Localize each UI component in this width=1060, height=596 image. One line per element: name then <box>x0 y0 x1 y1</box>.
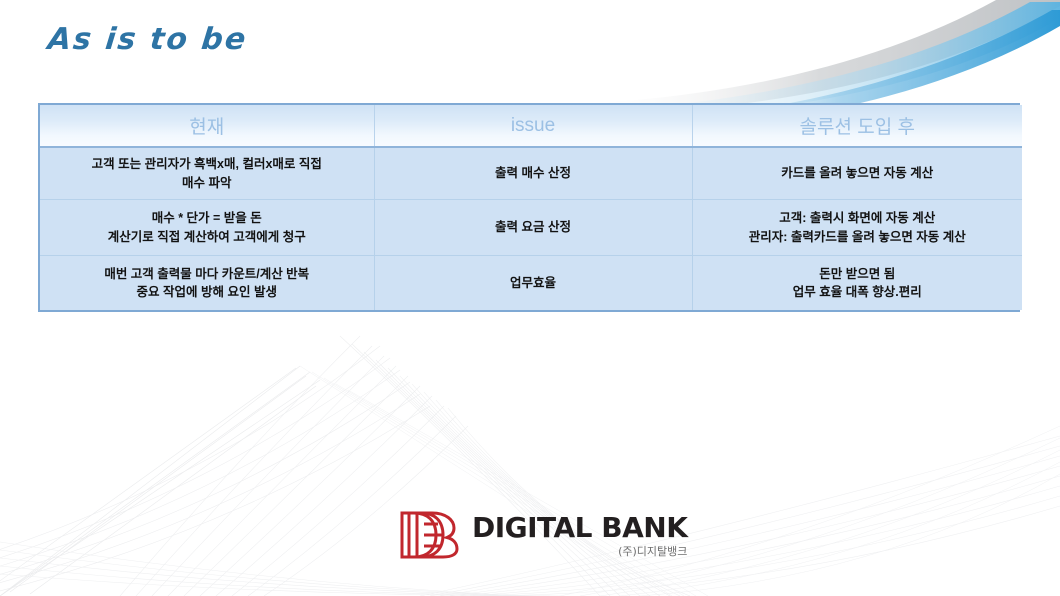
table-row: 고객 또는 관리자가 흑백x매, 컬러x매로 직접 매수 파악 출력 매수 산정… <box>40 147 1022 200</box>
cell-text-line: 매수 파악 <box>46 174 368 192</box>
cell-text-line: 업무효율 <box>381 274 686 292</box>
db-monogram-icon <box>398 508 462 562</box>
cell-text-line: 카드를 올려 놓으면 자동 계산 <box>699 164 1017 182</box>
cell-current-1: 고객 또는 관리자가 흑백x매, 컬러x매로 직접 매수 파악 <box>40 147 374 200</box>
cell-text-line: 출력 매수 산정 <box>381 164 686 182</box>
cell-issue-1: 출력 매수 산정 <box>374 147 692 200</box>
logo-wordmark: DIGITAL BANK <box>472 514 687 542</box>
cell-text-line: 관리자: 출력카드를 올려 놓으면 자동 계산 <box>699 228 1017 246</box>
slide-canvas: As is to be 현재 issue 솔루션 도입 후 고객 또는 관리자가… <box>0 0 1060 596</box>
as-is-to-be-table: 현재 issue 솔루션 도입 후 고객 또는 관리자가 흑백x매, 컬러x매로… <box>38 103 1020 312</box>
cell-current-2: 매수 * 단가 = 받을 돈 계산기로 직접 계산하여 고객에게 청구 <box>40 200 374 256</box>
cell-text-line: 돈만 받으면 됨 <box>699 265 1017 283</box>
cell-text-line: 매수 * 단가 = 받을 돈 <box>46 209 368 227</box>
logo-subtitle: (주)디지탈뱅크 <box>618 546 687 557</box>
cell-after-3: 돈만 받으면 됨 업무 효율 대폭 향상.편리 <box>692 256 1022 311</box>
table-header-row: 현재 issue 솔루션 도입 후 <box>40 105 1022 147</box>
cell-text-line: 출력 요금 산정 <box>381 218 686 236</box>
cell-text-line: 계산기로 직접 계산하여 고객에게 청구 <box>46 228 368 246</box>
cell-text-line: 중요 작업에 방해 요인 발생 <box>46 283 368 301</box>
logo-text-block: DIGITAL BANK (주)디지탈뱅크 <box>472 514 687 557</box>
cell-text-line: 고객 또는 관리자가 흑백x매, 컬러x매로 직접 <box>46 155 368 173</box>
table-row: 매수 * 단가 = 받을 돈 계산기로 직접 계산하여 고객에게 청구 출력 요… <box>40 200 1022 256</box>
column-header-issue: issue <box>374 105 692 147</box>
table-row: 매번 고객 출력물 마다 카운트/계산 반복 중요 작업에 방해 요인 발생 업… <box>40 256 1022 311</box>
column-header-after: 솔루션 도입 후 <box>692 105 1022 147</box>
cell-issue-3: 업무효율 <box>374 256 692 311</box>
cell-issue-2: 출력 요금 산정 <box>374 200 692 256</box>
cell-current-3: 매번 고객 출력물 마다 카운트/계산 반복 중요 작업에 방해 요인 발생 <box>40 256 374 311</box>
cell-after-1: 카드를 올려 놓으면 자동 계산 <box>692 147 1022 200</box>
cell-text-line: 매번 고객 출력물 마다 카운트/계산 반복 <box>46 265 368 283</box>
cell-text-line: 업무 효율 대폭 향상.편리 <box>699 283 1017 301</box>
cell-after-2: 고객: 출력시 화면에 자동 계산 관리자: 출력카드를 올려 놓으면 자동 계… <box>692 200 1022 256</box>
swoosh-curve-decoration <box>600 0 1060 120</box>
page-title: As is to be <box>46 22 249 57</box>
column-header-current: 현재 <box>40 105 374 147</box>
cell-text-line: 고객: 출력시 화면에 자동 계산 <box>699 209 1017 227</box>
logo: DIGITAL BANK (주)디지탈뱅크 <box>398 508 687 562</box>
